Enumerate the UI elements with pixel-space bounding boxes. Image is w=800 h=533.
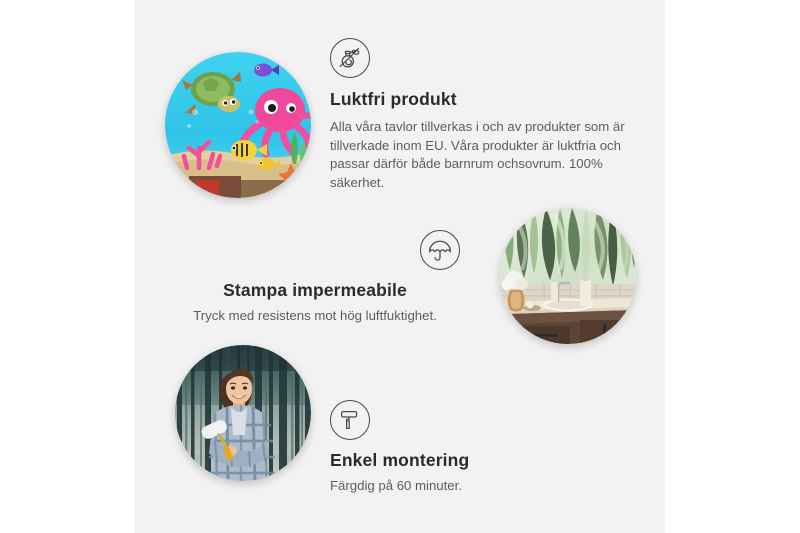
photo-woman-with-paint-roller [175, 345, 311, 481]
feature-easy-mounting: Enkel montering Färgdig på 60 minuter. [330, 400, 610, 496]
feature-description: Tryck med resistens mot hög luftfuktighe… [170, 307, 460, 326]
paint-roller-icon [330, 400, 370, 440]
feature-waterproof: Stampa impermeabile Tryck med resistens … [170, 230, 460, 326]
photo-bathroom-tropical-wallpaper [500, 208, 636, 344]
feature-description: Färgdig på 60 minuter. [330, 477, 610, 496]
feature-description: Alla våra tavlor tillverkas i och av pro… [330, 118, 630, 193]
feature-title: Stampa impermeabile [170, 280, 460, 302]
feature-banner: Luktfri produkt Alla våra tavlor tillver… [0, 0, 800, 533]
feature-odourless: Luktfri produkt Alla våra tavlor tillver… [330, 38, 630, 193]
feature-title: Luktfri produkt [330, 89, 630, 111]
no-fragrance-icon [330, 38, 370, 78]
photo-underwater-scene [165, 52, 311, 198]
feature-title: Enkel montering [330, 450, 610, 472]
umbrella-icon [420, 230, 460, 270]
